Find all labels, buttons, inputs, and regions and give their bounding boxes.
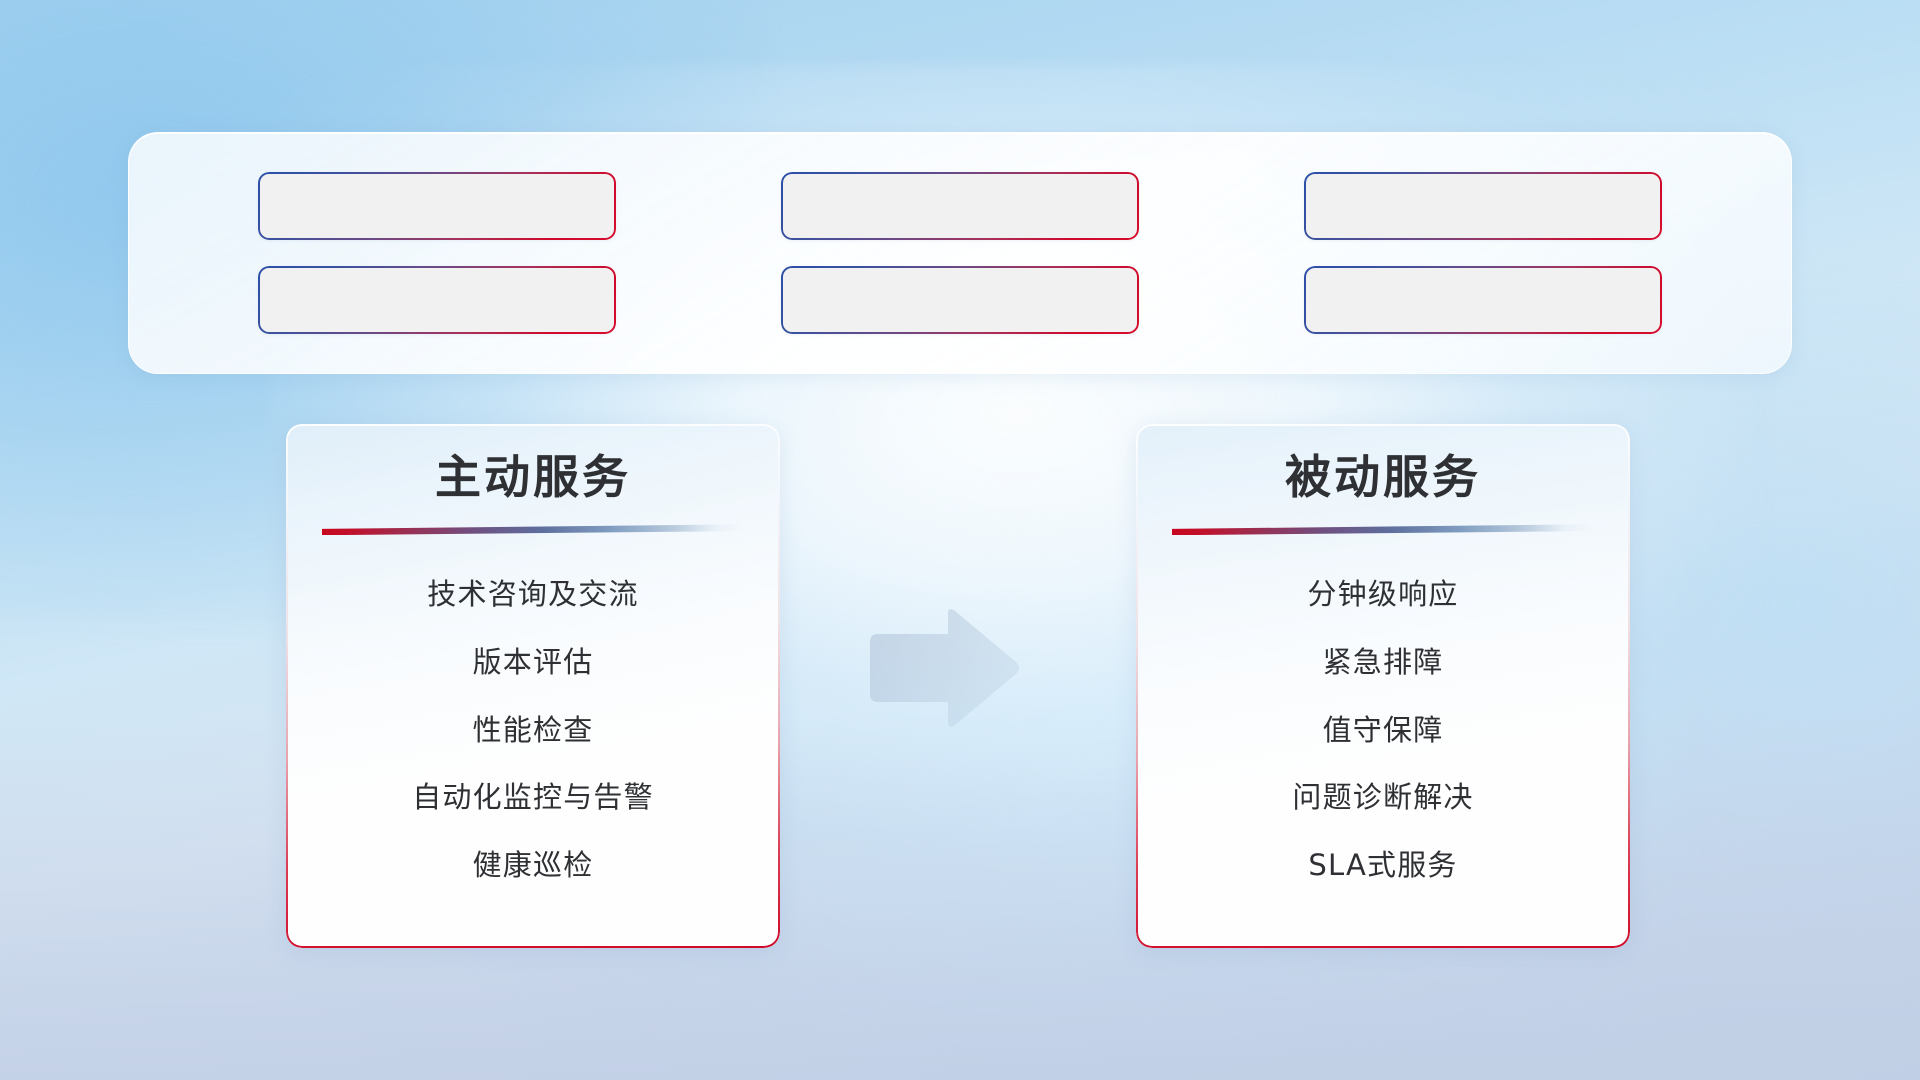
capability-panel: 自动化巡检工具 自动化性能数据采集 智能化性能分析 智能化性能分析 标准化文档模…	[128, 132, 1792, 374]
divider-gradient-bar	[1172, 524, 1594, 535]
capability-chip-label: 智能化性能分析	[1373, 191, 1594, 222]
capability-chip-6[interactable]: 集中监控平台	[1304, 266, 1662, 334]
capability-chip-label: 自动化性能数据采集	[818, 191, 1102, 222]
capability-chip-1[interactable]: 自动化巡检工具	[258, 172, 616, 240]
passive-service-card: 被动服务 分钟级响应 紧急排障 值守保障 问题诊断解决 SLA式服务	[1136, 424, 1630, 948]
list-item: 问题诊断解决	[1292, 782, 1473, 814]
capability-chip-label: 智能化性能分析	[326, 285, 547, 316]
passive-service-list: 分钟级响应 紧急排障 值守保障 问题诊断解决 SLA式服务	[1136, 543, 1630, 918]
divider-gradient-bar	[322, 524, 744, 535]
list-item: SLA式服务	[1308, 850, 1457, 882]
list-item: 自动化监控与告警	[412, 782, 654, 814]
list-item: 技术咨询及交流	[427, 579, 638, 611]
arrow-right-icon	[862, 604, 1024, 732]
capability-chip-label: 标准化文档模板	[850, 285, 1071, 316]
list-item: 分钟级响应	[1307, 579, 1458, 611]
capability-chip-label: 自动化巡检工具	[326, 191, 547, 222]
capability-chip-label: 集中监控平台	[1389, 285, 1578, 316]
passive-service-title: 被动服务	[1285, 450, 1481, 504]
active-service-list: 技术咨询及交流 版本评估 性能检查 自动化监控与告警 健康巡检	[286, 543, 780, 918]
list-item: 紧急排障	[1323, 647, 1444, 679]
passive-service-divider	[1172, 524, 1594, 535]
list-item: 版本评估	[473, 647, 594, 679]
active-service-title: 主动服务	[435, 450, 631, 504]
list-item: 性能检查	[473, 715, 594, 747]
list-item: 健康巡检	[473, 850, 594, 882]
active-service-divider	[322, 524, 744, 535]
active-service-card: 主动服务 技术咨询及交流 版本评估 性能检查 自动化监控与告警 健康巡检	[286, 424, 780, 948]
capability-chip-2[interactable]: 自动化性能数据采集	[781, 172, 1139, 240]
list-item: 值守保障	[1323, 715, 1444, 747]
capability-chip-5[interactable]: 标准化文档模板	[781, 266, 1139, 334]
capability-chip-4[interactable]: 智能化性能分析	[258, 266, 616, 334]
capability-chip-3[interactable]: 智能化性能分析	[1304, 172, 1662, 240]
